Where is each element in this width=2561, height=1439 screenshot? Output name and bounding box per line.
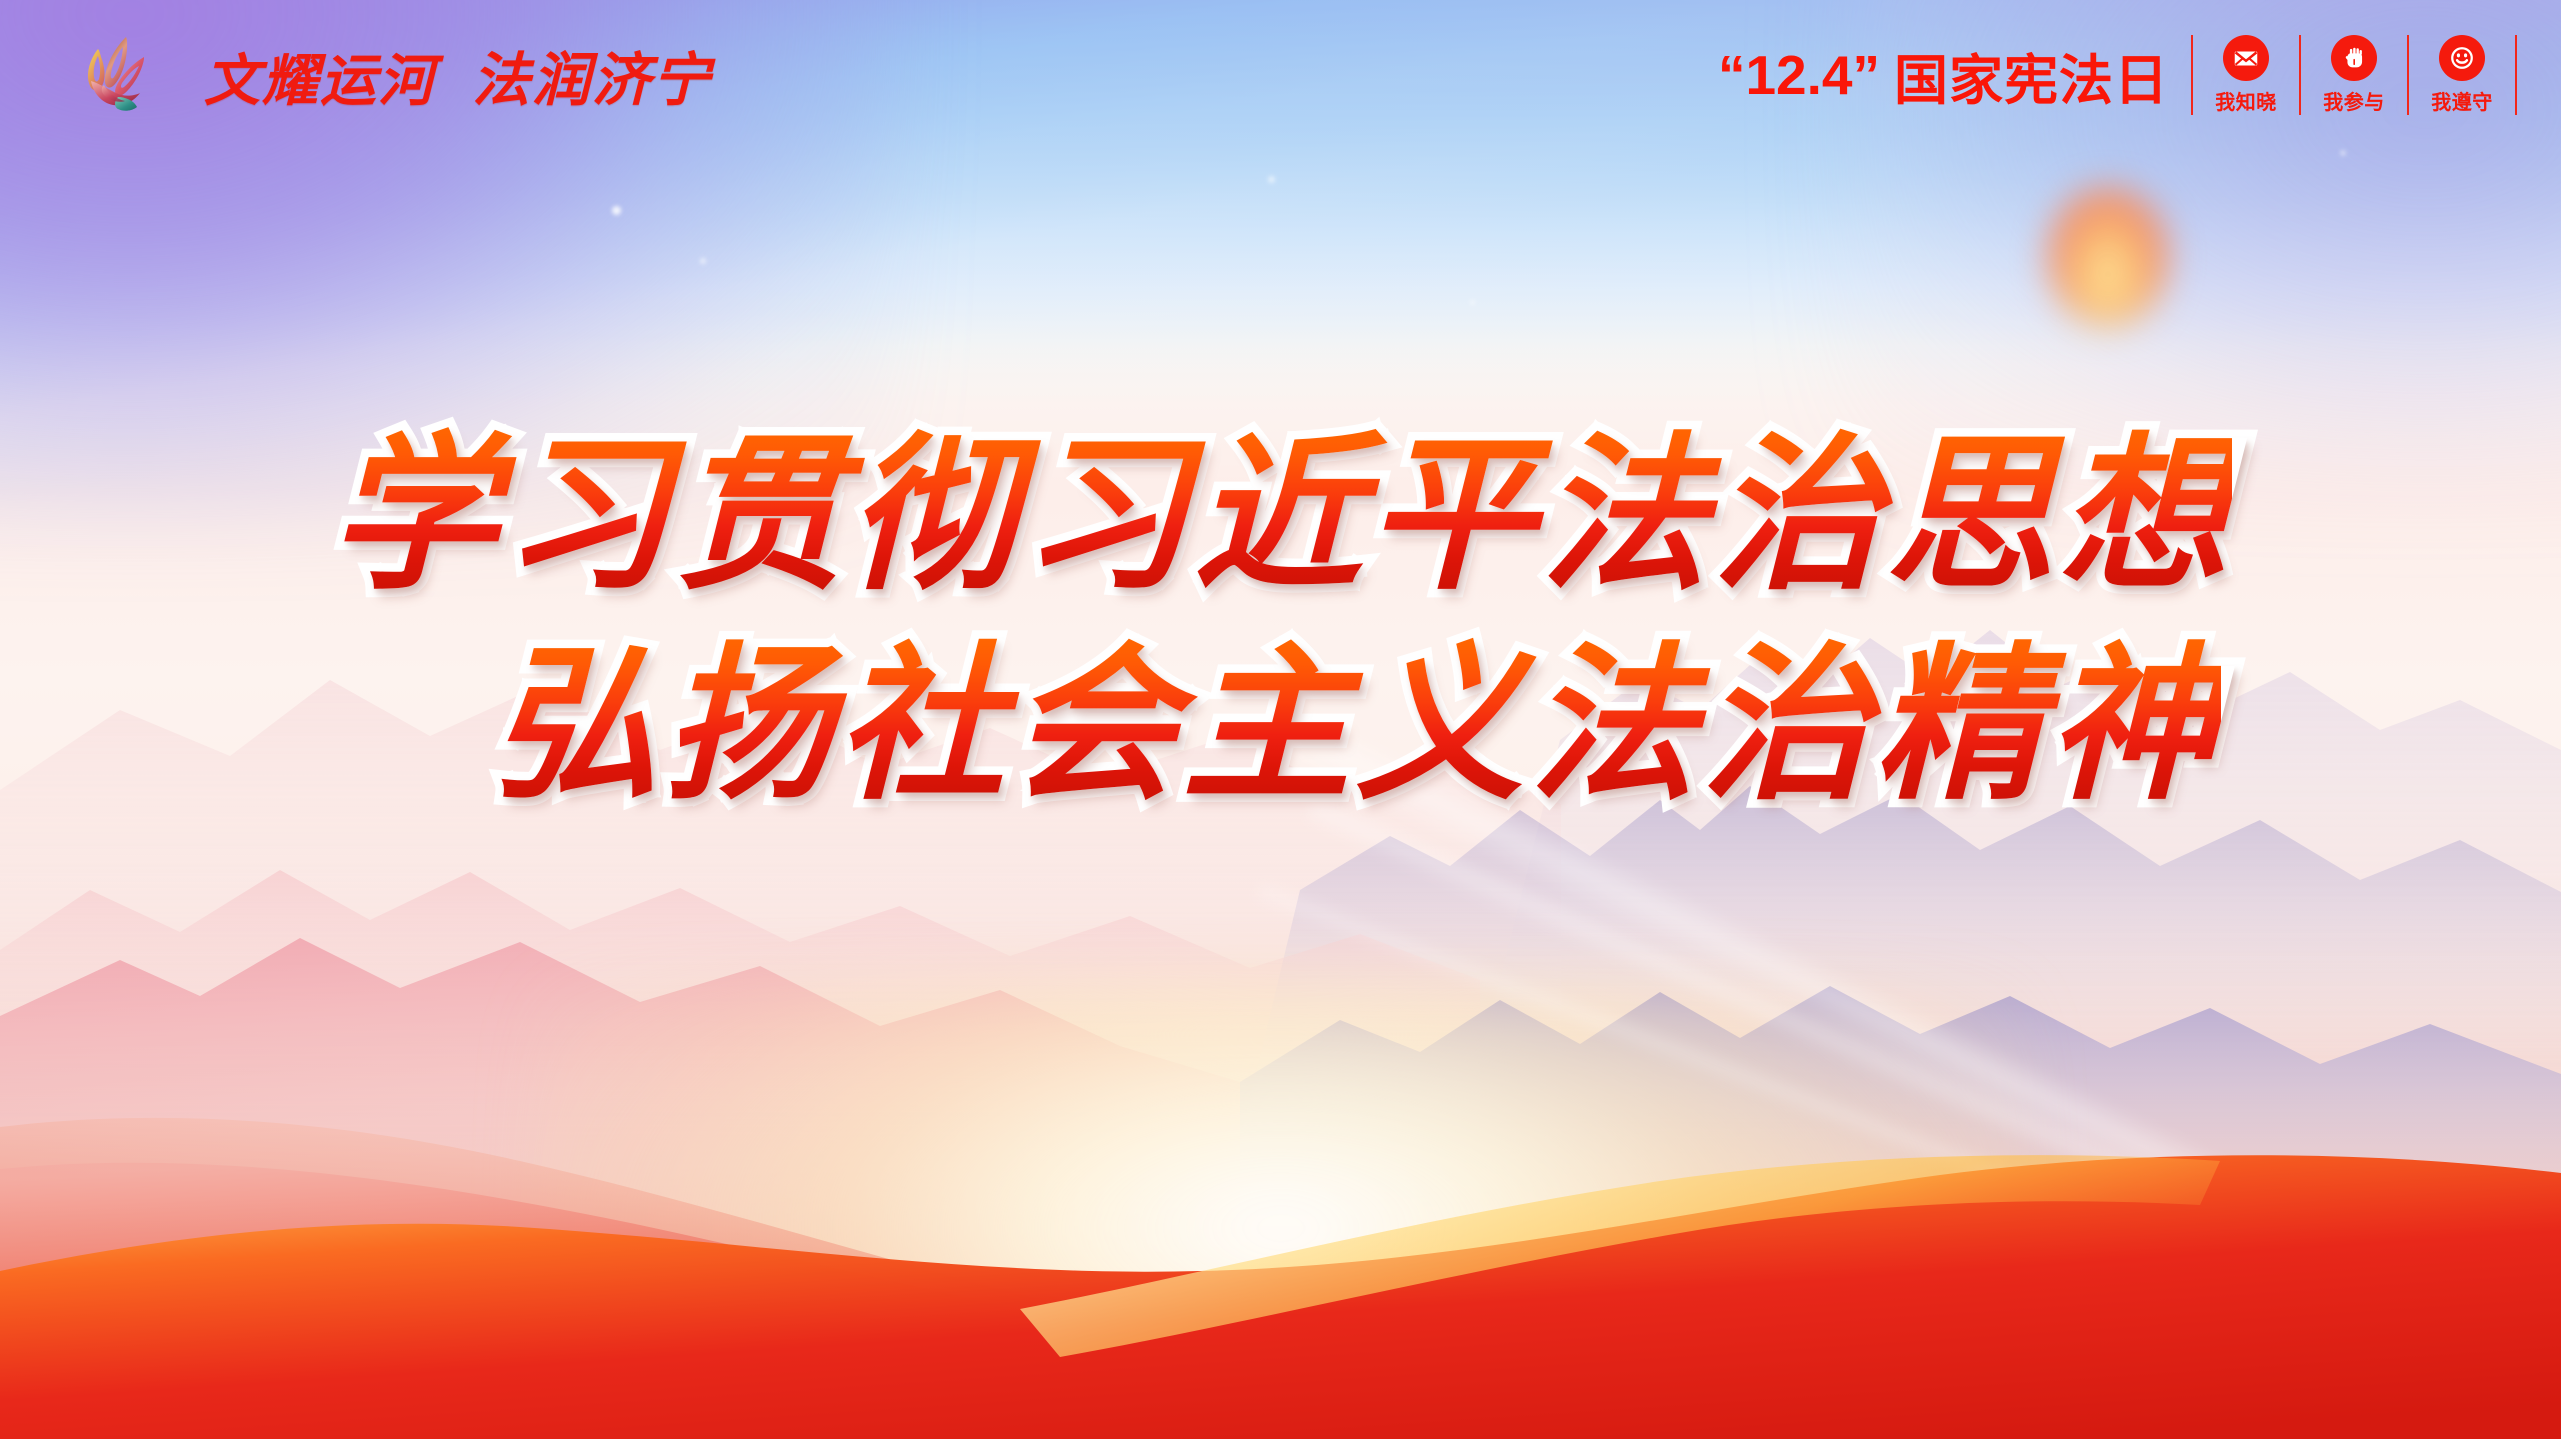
sunrise-glow — [531, 980, 2031, 1439]
brand-slogan-segment-2: 法润济宁 — [472, 33, 712, 117]
mountain-layer-far — [0, 560, 2561, 1060]
pledge-badge-label: 我参与 — [2323, 86, 2385, 115]
brand-slogan-segment-1: 文耀运河 — [204, 36, 436, 117]
sky-sparkle — [612, 206, 621, 215]
main-title-line-2: 弘扬社会主义法治精神 — [491, 630, 2221, 822]
light-beam — [1268, 703, 2551, 1367]
sky-sparkle — [2340, 150, 2346, 156]
light-beam — [1256, 881, 2431, 1349]
raised-fist-icon — [2331, 35, 2377, 81]
pledge-badge-participate[interactable]: 我参与 — [2299, 35, 2407, 115]
pledge-badge-label: 我知晓 — [2215, 86, 2277, 115]
mountain-layer-near — [0, 820, 2561, 1300]
constitution-day-name: 国家宪法日 — [1894, 36, 2169, 115]
pledge-badge-label: 我遵守 — [2431, 86, 2493, 115]
mountain-layer-mid — [0, 620, 2561, 1140]
sky-sparkle — [1470, 300, 1475, 305]
main-title-line-1-outline: 学习贯彻习近平法治思想 — [329, 420, 2232, 612]
sun-orb — [2048, 188, 2168, 326]
jining-flower-emblem-icon — [58, 23, 178, 127]
light-beam — [1303, 791, 2504, 1351]
pledge-badge-know[interactable]: 我知晓 — [2191, 35, 2299, 115]
sky-sparkle — [1268, 176, 1275, 183]
main-title-line-2-outline: 弘扬社会主义法治精神 — [491, 630, 2221, 822]
brand-slogan: 文耀运河 法润济宁 — [204, 33, 712, 117]
constitution-day-title: “12.4” 国家宪法日 — [1718, 36, 2169, 115]
pledge-badge-obey[interactable]: 我遵守 — [2407, 35, 2517, 115]
smiley-face-icon — [2439, 35, 2485, 81]
poster-header: 文耀运河 法润济宁 “12.4” 国家宪法日 — [0, 0, 2561, 150]
sky-sparkle — [700, 258, 706, 264]
main-title-line-1-row: 学习贯彻习近平法治思想 学习贯彻习近平法治思想 — [0, 420, 2561, 612]
pledge-badge-group: 我知晓 我参与 — [2191, 35, 2517, 115]
red-ridge-foreground — [0, 1009, 2561, 1439]
constitution-day-date: “12.4” — [1718, 43, 1880, 107]
main-title-line-1: 学习贯彻习近平法治思想 — [329, 420, 2232, 612]
brand-lockup-left: 文耀运河 法润济宁 — [58, 23, 712, 127]
poster-canvas: 文耀运河 法润济宁 “12.4” 国家宪法日 — [0, 0, 2561, 1439]
envelope-icon — [2223, 35, 2269, 81]
main-title-block: 学习贯彻习近平法治思想 学习贯彻习近平法治思想 弘扬社会主义法治精神 弘扬社会主… — [0, 420, 2561, 821]
constitution-day-lockup: “12.4” 国家宪法日 我知晓 — [1718, 35, 2517, 115]
main-title-line-2-row: 弘扬社会主义法治精神 弘扬社会主义法治精神 — [150, 630, 2561, 822]
